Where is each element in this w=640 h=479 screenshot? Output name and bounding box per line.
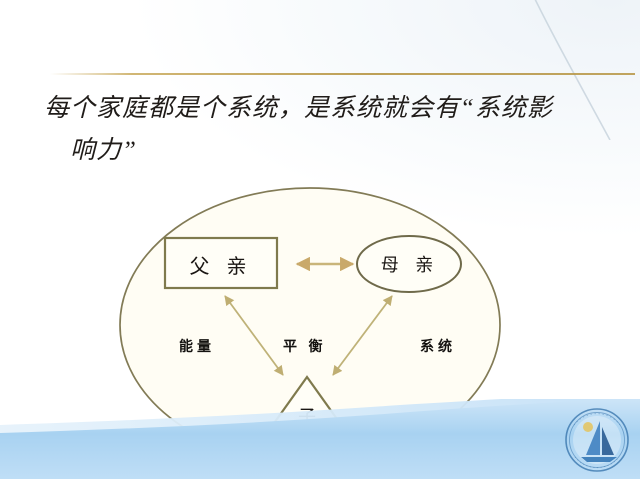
label-energy: 能量 bbox=[179, 336, 215, 356]
bottom-wave-decoration bbox=[0, 399, 640, 479]
arrow-mother-child bbox=[333, 296, 392, 375]
node-mother-label: 母 亲 bbox=[358, 251, 462, 277]
sailboat-seal-logo bbox=[562, 405, 632, 475]
title-line-1: 每个家庭都是个系统，是系统就会有“系统影 bbox=[44, 95, 553, 122]
label-system: 系统 bbox=[420, 336, 456, 356]
node-father-label: 父 亲 bbox=[165, 250, 277, 279]
page-title: 每个家庭都是个系统，是系统就会有“系统影 响力” bbox=[44, 88, 604, 172]
header-gold-rule bbox=[50, 73, 635, 75]
title-line-2: 响力” bbox=[44, 130, 604, 172]
slide-canvas: 每个家庭都是个系统，是系统就会有“系统影 响力” 父 亲 母 亲 子 bbox=[0, 0, 640, 479]
arrow-father-child bbox=[225, 296, 283, 375]
label-balance: 平 衡 bbox=[283, 336, 327, 356]
